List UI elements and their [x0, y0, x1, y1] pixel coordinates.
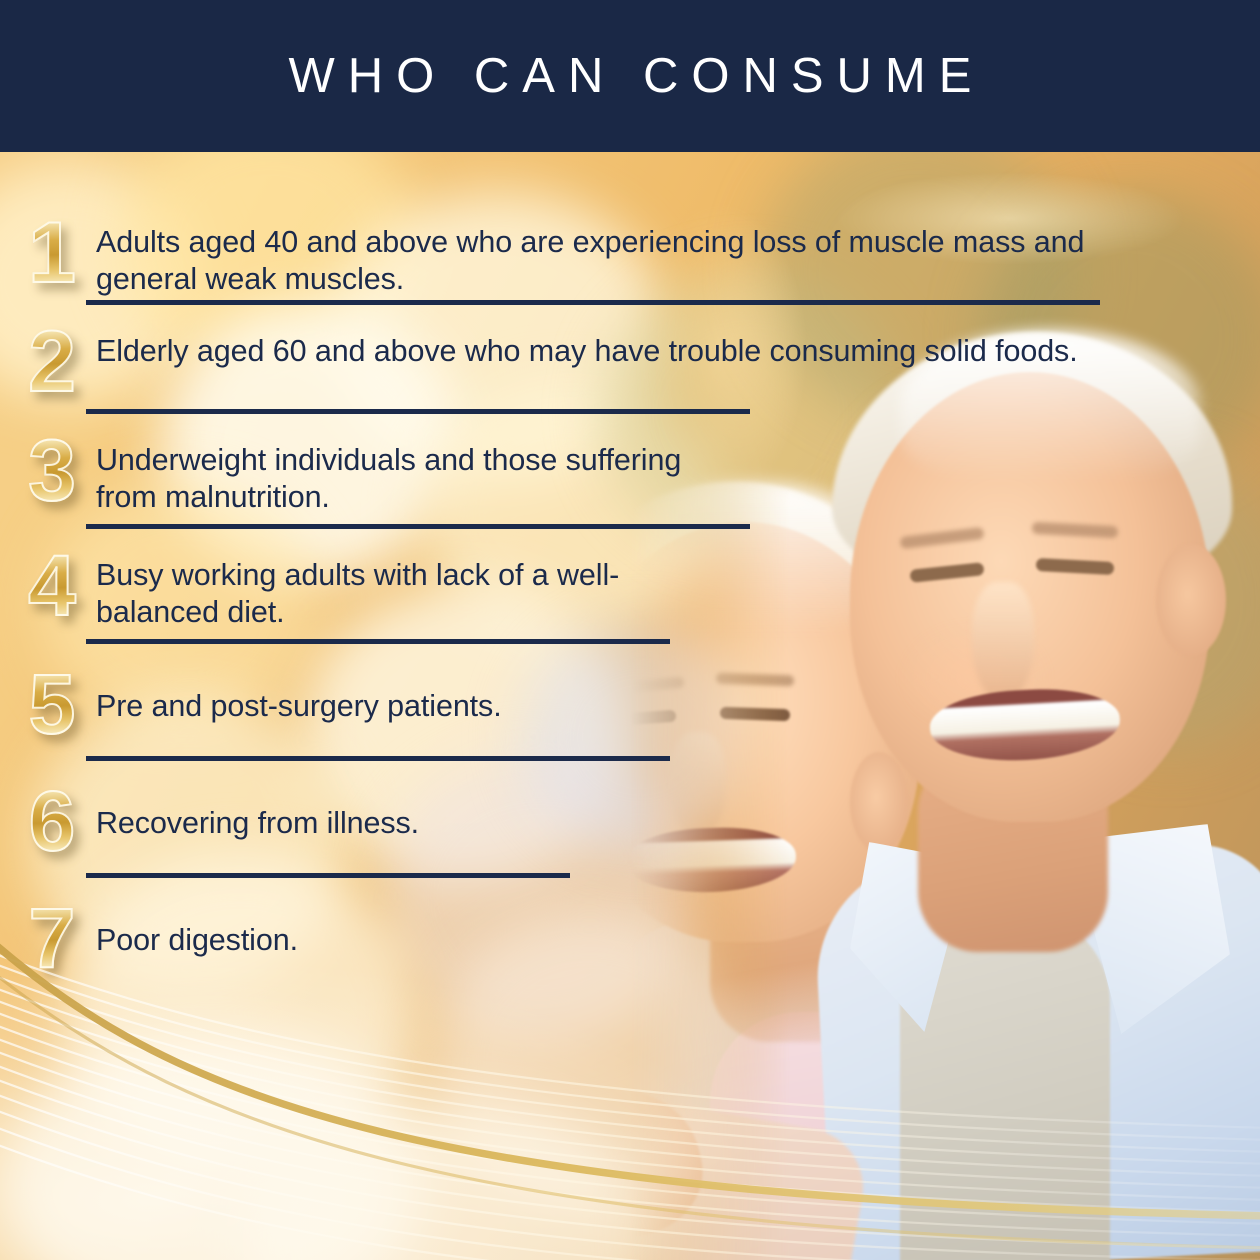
- list-item: 6 Recovering from illness.: [0, 783, 1260, 873]
- list-item-number: 6: [0, 783, 96, 860]
- list-item: 2 Elderly aged 60 and above who may have…: [0, 323, 1260, 409]
- list-item-text: Adults aged 40 and above who are experie…: [96, 214, 1260, 298]
- list-item: 4 Busy working adults with lack of a wel…: [0, 547, 1260, 639]
- list-divider: [86, 873, 570, 878]
- list-item-text: Pre and post-surgery patients.: [96, 666, 1260, 725]
- list-divider: [86, 639, 670, 644]
- list-item-number: 3: [0, 432, 96, 511]
- list-item-number: 2: [0, 323, 96, 402]
- list-item-text: Busy working adults with lack of a well-…: [96, 547, 1260, 631]
- list-divider: [86, 756, 670, 761]
- poster-canvas: WHO CAN CONSUME 1 Adults aged 40 and abo…: [0, 0, 1260, 1260]
- list-item-number: 1: [0, 214, 96, 293]
- list-item-text: Poor digestion.: [96, 900, 1260, 959]
- list-divider: [86, 409, 750, 414]
- list-item-text: Underweight individuals and those suffer…: [96, 432, 1260, 516]
- list-item: 1 Adults aged 40 and above who are exper…: [0, 214, 1260, 300]
- consumer-list: 1 Adults aged 40 and above who are exper…: [0, 152, 1260, 1022]
- list-item-number: 4: [0, 547, 96, 626]
- list-item: 5 Pre and post-surgery patients.: [0, 666, 1260, 756]
- list-item: 3 Underweight individuals and those suff…: [0, 432, 1260, 524]
- list-item: 7 Poor digestion.: [0, 900, 1260, 990]
- list-divider: [86, 524, 750, 529]
- list-item-text: Recovering from illness.: [96, 783, 1260, 842]
- list-item-number: 5: [0, 666, 96, 743]
- page-title: WHO CAN CONSUME: [276, 48, 985, 104]
- list-item-text: Elderly aged 60 and above who may have t…: [96, 323, 1260, 370]
- header-banner: WHO CAN CONSUME: [0, 0, 1260, 152]
- list-divider: [86, 300, 1100, 305]
- list-item-number: 7: [0, 900, 96, 977]
